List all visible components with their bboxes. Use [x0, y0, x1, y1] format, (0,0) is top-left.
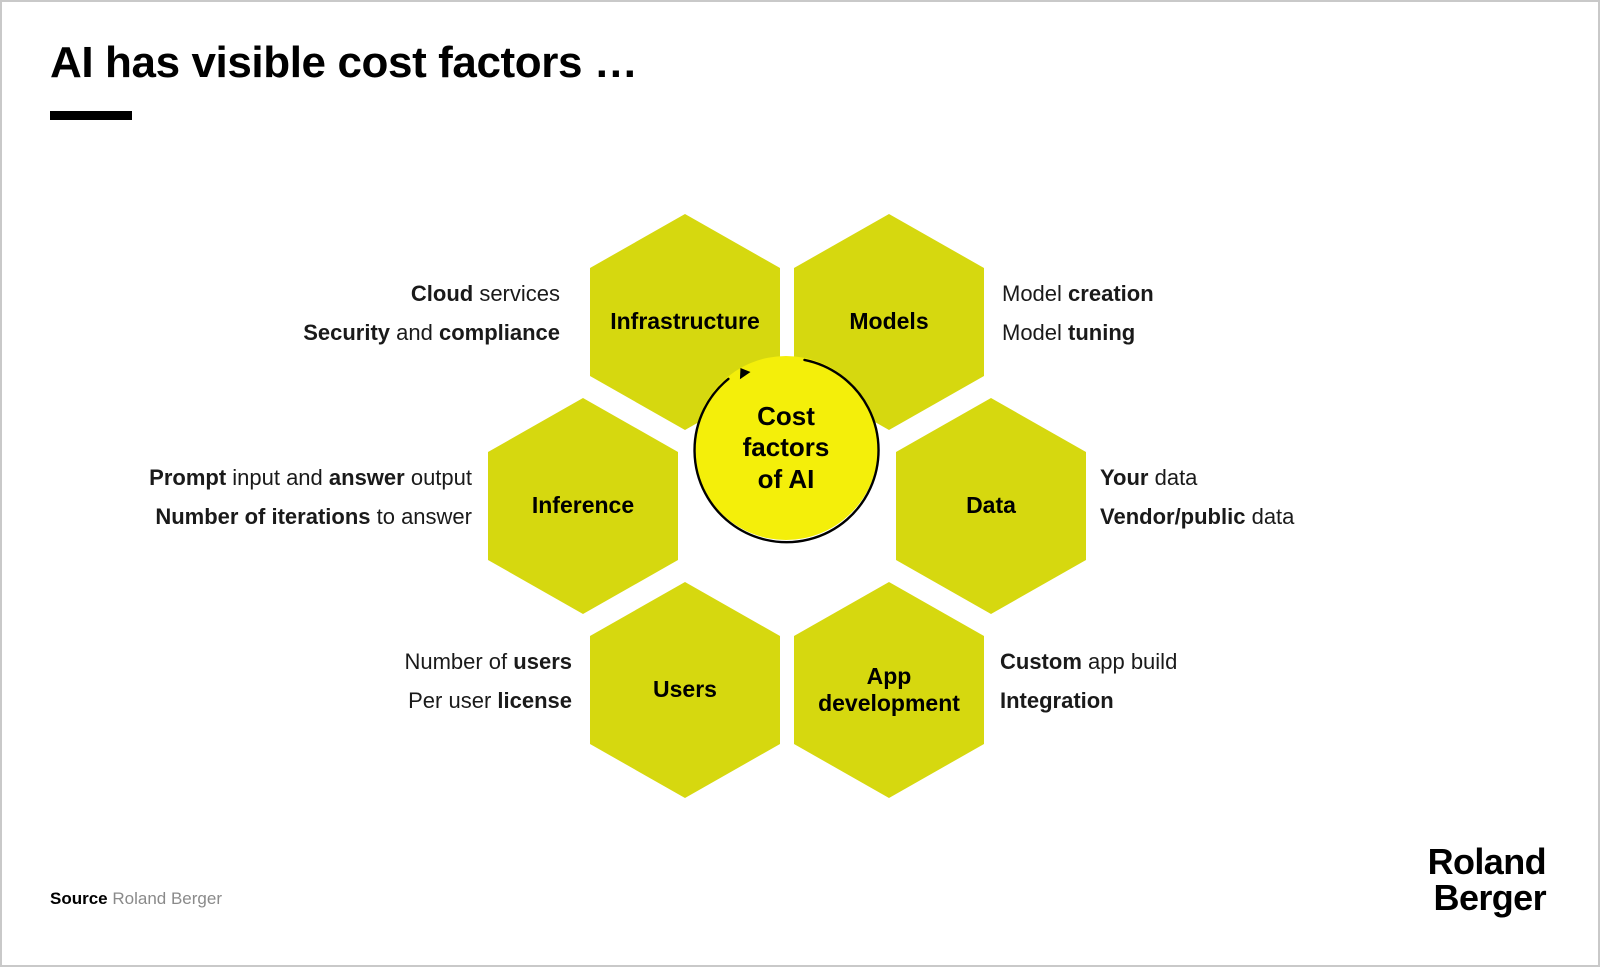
annotation-text: and: [390, 320, 439, 345]
source-note: Source Roland Berger: [50, 889, 222, 909]
page-title: AI has visible cost factors …: [50, 38, 638, 89]
annotation-text-strong: tuning: [1068, 320, 1135, 345]
annotation-infrastructure-line-1: Cloud services: [303, 274, 560, 313]
annotation-text: Per user: [408, 688, 497, 713]
annotation-text-strong: Vendor/public: [1100, 504, 1245, 529]
annotation-inference-line-1: Prompt input and answer output: [149, 458, 472, 497]
hexagon-users[interactable]: Users: [590, 582, 780, 798]
annotation-text: data: [1148, 465, 1197, 490]
annotation-inference-line-2: Number of iterations to answer: [149, 497, 472, 536]
annotation-text: output: [405, 465, 472, 490]
annotation-text-strong: creation: [1068, 281, 1154, 306]
annotation-users-line-1: Number of users: [404, 642, 572, 681]
annotation-text-strong: license: [497, 688, 572, 713]
hexagon-label-users: Users: [643, 676, 727, 703]
annotation-infrastructure-line-2: Security and compliance: [303, 313, 560, 352]
annotation-app-line-2: Integration: [1000, 681, 1177, 720]
annotation-data-line-2: Vendor/public data: [1100, 497, 1294, 536]
annotation-text: app build: [1082, 649, 1177, 674]
center-circle-label: Cost factors of AI: [743, 401, 830, 495]
roland-berger-logo: Roland Berger: [1428, 844, 1546, 917]
annotation-models-line-1: Model creation: [1002, 274, 1154, 313]
annotation-data: Your data Vendor/public data: [1100, 458, 1294, 536]
logo-line-1: Roland: [1428, 844, 1546, 881]
annotation-text-strong: compliance: [439, 320, 560, 345]
hexagon-label-models: Models: [839, 308, 938, 335]
hexagon-inference[interactable]: Inference: [488, 398, 678, 614]
annotation-text: Model: [1002, 320, 1068, 345]
annotation-text-strong: answer: [329, 465, 405, 490]
annotation-text: data: [1245, 504, 1294, 529]
hexagon-data[interactable]: Data: [896, 398, 1086, 614]
annotation-text-strong: Number of iterations: [155, 504, 370, 529]
hexagon-label-data: Data: [956, 492, 1026, 519]
annotation-text-strong: Prompt: [149, 465, 226, 490]
hexagon-label-app-development: App development: [808, 663, 970, 717]
annotation-text: input and: [226, 465, 329, 490]
annotation-data-line-1: Your data: [1100, 458, 1294, 497]
annotation-text: to answer: [371, 504, 473, 529]
annotation-text-strong: Your: [1100, 465, 1148, 490]
hexagon-label-infrastructure: Infrastructure: [600, 308, 770, 335]
hexagon-app-development[interactable]: App development: [794, 582, 984, 798]
annotation-users: Number of users Per user license: [404, 642, 572, 720]
annotation-text: services: [473, 281, 560, 306]
annotation-inference: Prompt input and answer output Number of…: [149, 458, 472, 536]
hexagon-label-inference: Inference: [522, 492, 644, 519]
annotation-text-strong: Integration: [1000, 688, 1114, 713]
logo-line-2: Berger: [1428, 880, 1546, 917]
source-label: Source: [50, 889, 108, 908]
annotation-models: Model creation Model tuning: [1002, 274, 1154, 352]
annotation-text: Number of: [404, 649, 513, 674]
annotation-text-strong: Security: [303, 320, 390, 345]
annotation-text-strong: Custom: [1000, 649, 1082, 674]
annotation-users-line-2: Per user license: [404, 681, 572, 720]
annotation-infrastructure: Cloud services Security and compliance: [303, 274, 560, 352]
annotation-text: Model: [1002, 281, 1068, 306]
slide-canvas: AI has visible cost factors … Infrastruc…: [0, 0, 1600, 967]
annotation-models-line-2: Model tuning: [1002, 313, 1154, 352]
annotation-app-line-1: Custom app build: [1000, 642, 1177, 681]
cost-factors-honeycomb-diagram: Infrastructure Models Inference Data Use…: [2, 152, 1600, 832]
annotation-text-strong: Cloud: [411, 281, 473, 306]
source-value: Roland Berger: [108, 889, 222, 908]
title-block: AI has visible cost factors …: [50, 38, 638, 120]
title-underline-rule: [50, 111, 132, 120]
annotation-text-strong: users: [513, 649, 572, 674]
annotation-app-development: Custom app build Integration: [1000, 642, 1177, 720]
center-circle-cost-factors[interactable]: Cost factors of AI: [694, 356, 878, 540]
